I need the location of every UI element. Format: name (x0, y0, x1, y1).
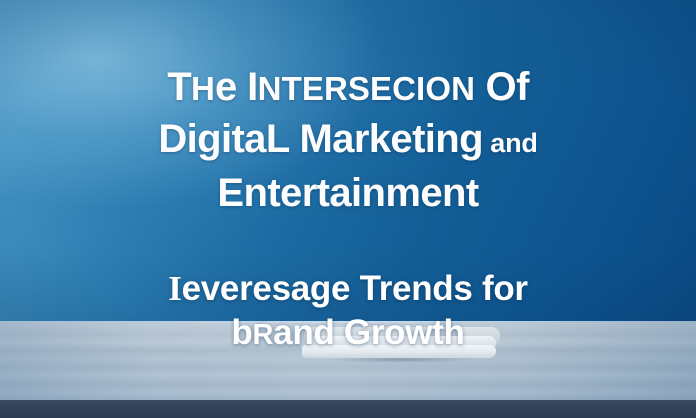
title-line-1: THe INTERSECION Of (0, 62, 696, 114)
text-run: T (167, 65, 191, 109)
text-run: DigitaL Marketing (158, 117, 483, 161)
title-line-2: DigitaL Marketing and (0, 114, 696, 168)
text-run: and Growth (273, 313, 464, 352)
text-layer: THe INTERSECION Of DigitaL Marketing and… (0, 0, 696, 418)
text-run: and (483, 128, 538, 158)
banner-title: THe INTERSECION Of DigitaL Marketing and… (0, 62, 696, 218)
text-run: e (215, 65, 247, 109)
text-run: H (191, 70, 215, 107)
promo-banner: THe INTERSECION Of DigitaL Marketing and… (0, 0, 696, 418)
text-run: b (231, 313, 252, 352)
text-run: f (516, 65, 529, 109)
text-run: O (475, 65, 516, 109)
text-run: R (253, 319, 274, 351)
banner-subtitle: Ieveresage Trends for bRand Growth (0, 267, 696, 357)
text-run: everesage Trends for (182, 269, 528, 308)
subtitle-line-1: Ieveresage Trends for (0, 267, 696, 311)
text-run: I (247, 65, 258, 109)
text-run: Entertainment (217, 171, 478, 215)
subtitle-line-2: bRand Growth (0, 311, 696, 357)
title-line-3: Entertainment (0, 168, 696, 218)
text-run: I (168, 269, 181, 308)
text-run: NTERSECION (258, 70, 475, 107)
